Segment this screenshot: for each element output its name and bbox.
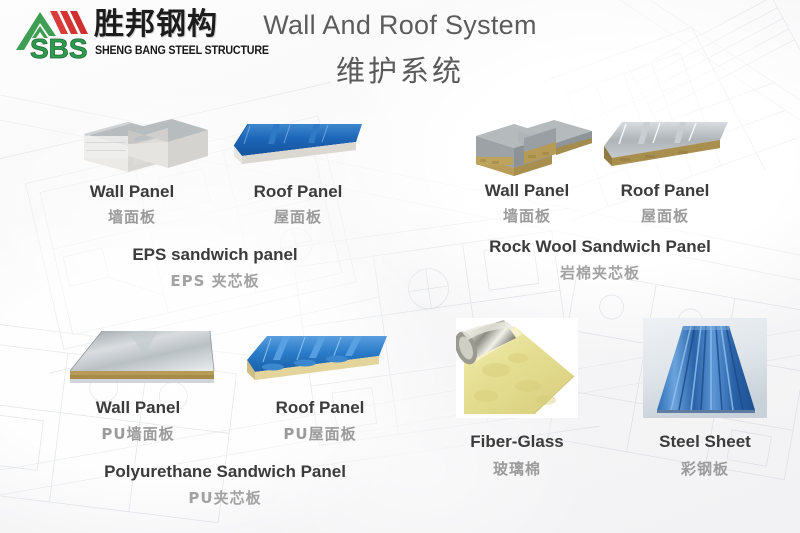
pu-group-title-cn: PU夹芯板 [40,487,410,508]
rock-wool-group-title-en: Rock Wool Sandwich Panel [450,237,750,257]
pu-wall-panel-image [58,325,218,392]
steel-sheet-label-en: Steel Sheet [625,432,785,452]
fiber-glass-label-en: Fiber-Glass [437,432,597,452]
eps-wall-panel-label-cn: 墙面板 [52,206,212,227]
pu-roof-panel-label-en: Roof Panel [230,398,410,418]
eps-wall-panel-image [68,112,208,187]
steel-sheet-label-cn: 彩钢板 [625,458,785,479]
eps-roof-panel-label-en: Roof Panel [218,182,378,202]
rock-wool-roof-panel-image [600,114,732,185]
rock-wool-group-title-cn: 岩棉夹芯板 [450,262,750,283]
pu-roof-panel-image [243,330,391,393]
rock-wool-wall-panel-label-cn: 墙面板 [452,205,602,226]
eps-roof-panel-image [228,116,368,185]
eps-wall-panel-label-en: Wall Panel [52,182,212,202]
rock-wool-roof-panel-label-cn: 屋面板 [590,205,740,226]
eps-group-title-en: EPS sandwich panel [70,245,360,265]
rock-wool-roof-panel-label-en: Roof Panel [590,181,740,201]
pu-roof-panel-label-cn: PU屋面板 [230,423,410,444]
steel-sheet-image [643,318,767,423]
rock-wool-wall-panel-image [468,114,598,187]
eps-group-title-cn: EPS 夹芯板 [70,270,360,291]
fiber-glass-label-cn: 玻璃棉 [437,458,597,479]
pu-group-title-en: Polyurethane Sandwich Panel [40,462,410,482]
page-title-en: Wall And Roof System [0,10,800,41]
pu-wall-panel-label-en: Wall Panel [48,398,228,418]
page-title-cn: 维护系统 [0,48,800,90]
pu-wall-panel-label-cn: PU墙面板 [48,423,228,444]
fiber-glass-image [456,318,578,423]
eps-roof-panel-label-cn: 屋面板 [218,206,378,227]
slide-root: SBS 胜邦钢构 SHENG BANG STEEL STRUCTURE Wall… [0,0,800,533]
rock-wool-wall-panel-label-en: Wall Panel [452,181,602,201]
